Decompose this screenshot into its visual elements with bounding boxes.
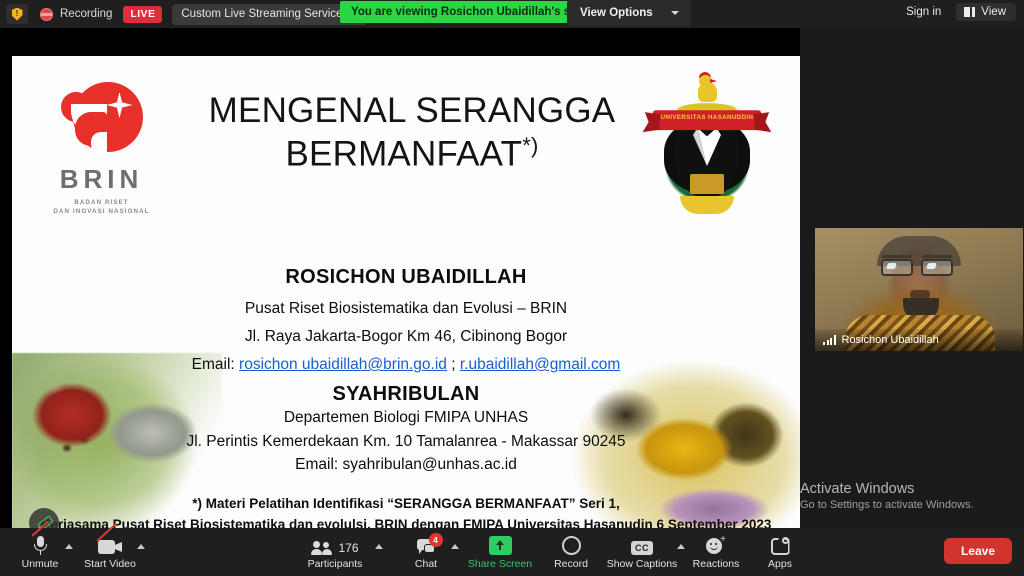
presenter1-name: ROSICHON UBAIDILLAH xyxy=(12,266,800,289)
presenter1-address: Jl. Raya Jakarta-Bogor Km 46, Cibinong B… xyxy=(12,328,800,346)
activate-windows-title: Activate Windows xyxy=(800,481,1024,497)
participants-label: Participants xyxy=(308,558,363,570)
email-prefix: Email: xyxy=(192,356,239,373)
record-label: Record xyxy=(554,558,588,570)
brin-logo: BRIN BADAN RISET DAN INOVASI NASIONAL xyxy=(44,78,159,217)
shared-screen-letterbox xyxy=(0,28,800,56)
signal-strength-icon xyxy=(823,335,836,345)
recording-label: Recording xyxy=(60,8,112,20)
view-options-button[interactable]: View Options xyxy=(567,0,691,26)
view-layout-button[interactable]: View xyxy=(956,3,1016,21)
presenter2-address: Jl. Perintis Kemerdekaan Km. 10 Tamalanr… xyxy=(12,433,800,451)
shared-screen-area[interactable]: BRIN BADAN RISET DAN INOVASI NASIONAL UN… xyxy=(0,28,800,528)
unhas-ribbon: UNIVERSITAS HASANUDDIN xyxy=(651,110,763,130)
participant-video-thumbnail[interactable]: Rosichon Ubaidillah xyxy=(815,228,1023,351)
chat-label: Chat xyxy=(415,558,437,570)
top-toolbar: Recording LIVE Custom Live Streaming Ser… xyxy=(0,0,1024,28)
view-options-label: View Options xyxy=(580,7,653,19)
topbar-right-group: Sign in View xyxy=(897,3,1016,21)
recording-status-group: Recording LIVE Custom Live Streaming Ser… xyxy=(0,4,368,25)
book-icon xyxy=(690,174,724,194)
zoom-meeting-window: Recording LIVE Custom Live Streaming Ser… xyxy=(0,0,1024,576)
eyeglasses-left xyxy=(881,259,913,276)
share-screen-icon xyxy=(489,532,512,555)
activate-windows-subtitle: Go to Settings to activate Windows. xyxy=(800,499,1024,511)
slide-footnote-line1: *) Materi Pelatihan Identifikasi “SERANG… xyxy=(12,496,800,511)
cc-icon: CC xyxy=(631,532,653,555)
participants-chevron-icon[interactable] xyxy=(375,544,383,549)
share-screen-button[interactable]: Share Screen xyxy=(468,532,532,570)
eyeglasses-right xyxy=(921,259,953,276)
brin-wordmark: BRIN xyxy=(44,166,159,192)
reactions-label: Reactions xyxy=(693,558,740,570)
slide-title-footnote-marker: *) xyxy=(522,133,538,158)
record-button[interactable]: Record xyxy=(539,532,603,570)
show-captions-label: Show Captions xyxy=(607,558,678,570)
unmute-label: Unmute xyxy=(22,558,59,570)
presenter1-email-row: Email: rosichon ubaidillah@brin.go.id ; … xyxy=(12,356,800,374)
apps-button[interactable]: Apps xyxy=(748,532,812,570)
sign-in-button[interactable]: Sign in xyxy=(897,3,950,21)
leave-button[interactable]: Leave xyxy=(944,538,1012,564)
chat-unread-badge: 4 xyxy=(429,533,443,547)
share-screen-label: Share Screen xyxy=(468,558,532,570)
activate-windows-watermark: Activate Windows Go to Settings to activ… xyxy=(800,481,1024,511)
start-video-label: Start Video xyxy=(84,558,136,570)
presenter2-email: Email: syahribulan@unhas.ac.id xyxy=(12,456,800,474)
apps-icon xyxy=(771,532,790,555)
slide-title-line1: MENGENAL SERANGGA xyxy=(209,91,616,130)
chat-button[interactable]: 4 Chat xyxy=(394,532,458,570)
show-captions-button[interactable]: CC Show Captions xyxy=(610,532,674,570)
chevron-down-icon xyxy=(671,11,679,15)
brin-mark-icon xyxy=(61,78,143,158)
camera-off-icon xyxy=(98,532,122,555)
unhas-ribbon-text: UNIVERSITAS HASANUDDIN xyxy=(652,114,762,121)
video-options-chevron-icon[interactable] xyxy=(137,544,145,549)
chat-chevron-icon[interactable] xyxy=(451,544,459,549)
email-separator: ; xyxy=(447,356,460,373)
slide-title-line2: BERMANFAAT xyxy=(286,134,523,173)
presenter2-name: SYAHRIBULAN xyxy=(12,383,800,406)
eyebrow-right xyxy=(922,255,952,258)
presentation-slide[interactable]: BRIN BADAN RISET DAN INOVASI NASIONAL UN… xyxy=(12,56,800,543)
participants-count: 176 xyxy=(338,541,358,555)
reactions-button[interactable]: + Reactions xyxy=(684,532,748,570)
start-video-button[interactable]: Start Video xyxy=(78,532,142,570)
microphone-muted-icon xyxy=(34,532,47,555)
record-circle-icon xyxy=(562,532,581,555)
unmute-button[interactable]: Unmute xyxy=(8,532,72,570)
apps-label: Apps xyxy=(768,558,792,570)
brin-tagline-line1: BADAN RISET xyxy=(44,198,159,207)
audio-options-chevron-icon[interactable] xyxy=(65,544,73,549)
live-badge: LIVE xyxy=(123,6,162,23)
shield-warning-icon[interactable] xyxy=(6,4,28,24)
reactions-smiley-icon: + xyxy=(706,532,726,555)
layout-grid-icon xyxy=(964,7,975,17)
meeting-controls-toolbar: Unmute Start Video 176 Participants 4 xyxy=(0,528,1024,576)
participants-icon: 176 xyxy=(311,532,358,555)
presenter1-affiliation: Pusat Riset Biosistematika dan Evolusi –… xyxy=(12,300,800,318)
thumbnail-name-bar: Rosichon Ubaidillah xyxy=(815,329,1023,351)
streaming-service-label: Custom Live Streaming Service xyxy=(181,8,342,20)
chat-bubble-icon: 4 xyxy=(417,532,436,555)
view-label: View xyxy=(981,6,1006,18)
participants-button[interactable]: 176 Participants xyxy=(303,532,367,570)
slide-title: MENGENAL SERANGGA BERMANFAAT*) xyxy=(162,90,662,176)
presenter2-affiliation: Departemen Biologi FMIPA UNHAS xyxy=(12,409,800,427)
recording-dot-icon xyxy=(40,8,53,21)
presenter1-email-link-1[interactable]: rosichon ubaidillah@brin.go.id xyxy=(239,356,447,373)
video-rail: Rosichon Ubaidillah xyxy=(800,28,1024,528)
eyebrow-left xyxy=(882,255,912,258)
recording-indicator[interactable]: Recording LIVE xyxy=(40,6,162,23)
presenter1-email-link-2[interactable]: r.ubaidillah@gmail.com xyxy=(460,356,620,373)
rooster-icon xyxy=(694,74,720,104)
brin-tagline-line2: DAN INOVASI NASIONAL xyxy=(44,207,159,216)
participant-name: Rosichon Ubaidillah xyxy=(842,334,939,346)
